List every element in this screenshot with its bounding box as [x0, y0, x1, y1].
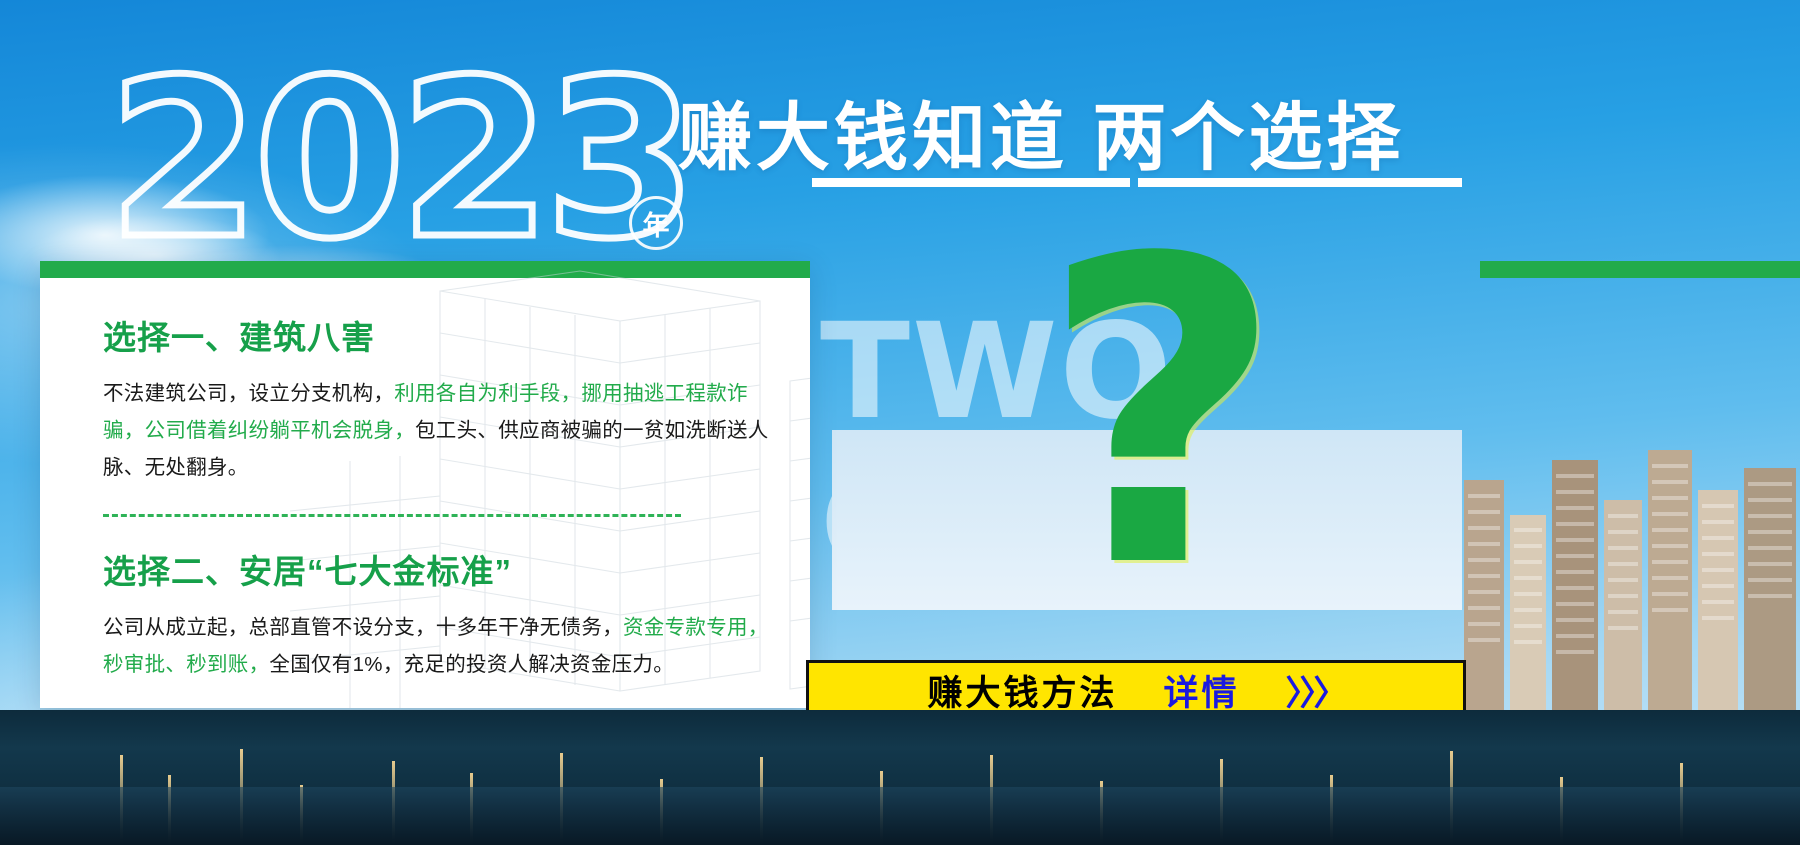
water-reflection	[0, 787, 1800, 845]
green-accent-bar	[1480, 261, 1800, 278]
background-cityscape-right	[1460, 420, 1800, 710]
text-run-plain: 全国仅有1%，充足的投资人解决资金压力。	[269, 653, 674, 676]
section-two-title: 选择二、安居“七大金标准”	[103, 545, 782, 593]
year-headline-2023: 2023	[108, 52, 691, 270]
ghost-text-two: TWO	[820, 306, 1174, 438]
text-run-plain: 公司从成立起，总部直管不设分支，十多年干净无债务，	[103, 616, 623, 639]
section-choice-one: 选择一、建筑八害 不法建筑公司，设立分支机构，利用各自为利手段，挪用抽逃工程款诈…	[103, 311, 782, 486]
cta-main-label: 赚大钱方法	[927, 665, 1117, 716]
content-card: 选择一、建筑八害 不法建筑公司，设立分支机构，利用各自为利手段，挪用抽逃工程款诈…	[40, 261, 810, 708]
cta-detail-label: 详情	[1164, 665, 1240, 716]
cityscape-sky	[832, 430, 1462, 610]
section-one-body: 不法建筑公司，设立分支机构，利用各自为利手段，挪用抽逃工程款诈骗，公司借着纠纷躺…	[103, 375, 775, 486]
section-choice-two: 选择二、安居“七大金标准” 公司从成立起，总部直管不设分支，十多年干净无债务，资…	[103, 545, 782, 683]
year-unit-badge: 年	[629, 196, 683, 250]
page-title: 赚大钱知道 两个选择	[678, 78, 1405, 185]
card-top-accent	[40, 261, 810, 278]
promotional-banner: 2023 年 赚大钱知道 两个选择 TWO CHOICES	[0, 0, 1800, 845]
section-two-body: 公司从成立起，总部直管不设分支，十多年干净无债务，资金专款专用，秒审批、秒到账，…	[103, 609, 775, 683]
cityscape-svg	[1460, 420, 1800, 710]
section-one-title: 选择一、建筑八害	[103, 311, 782, 359]
bottom-night-strip	[0, 710, 1800, 845]
chevron-right-icon: 〉〉〉	[1286, 666, 1345, 715]
card-body: 选择一、建筑八害 不法建筑公司，设立分支机构，利用各自为利手段，挪用抽逃工程款诈…	[103, 311, 782, 683]
text-run-plain: 不法建筑公司，设立分支机构，	[103, 382, 394, 405]
section-divider	[103, 514, 681, 517]
cityscape-photo	[832, 430, 1462, 610]
right-visual-panel: TWO CHOICES	[812, 186, 1462, 666]
